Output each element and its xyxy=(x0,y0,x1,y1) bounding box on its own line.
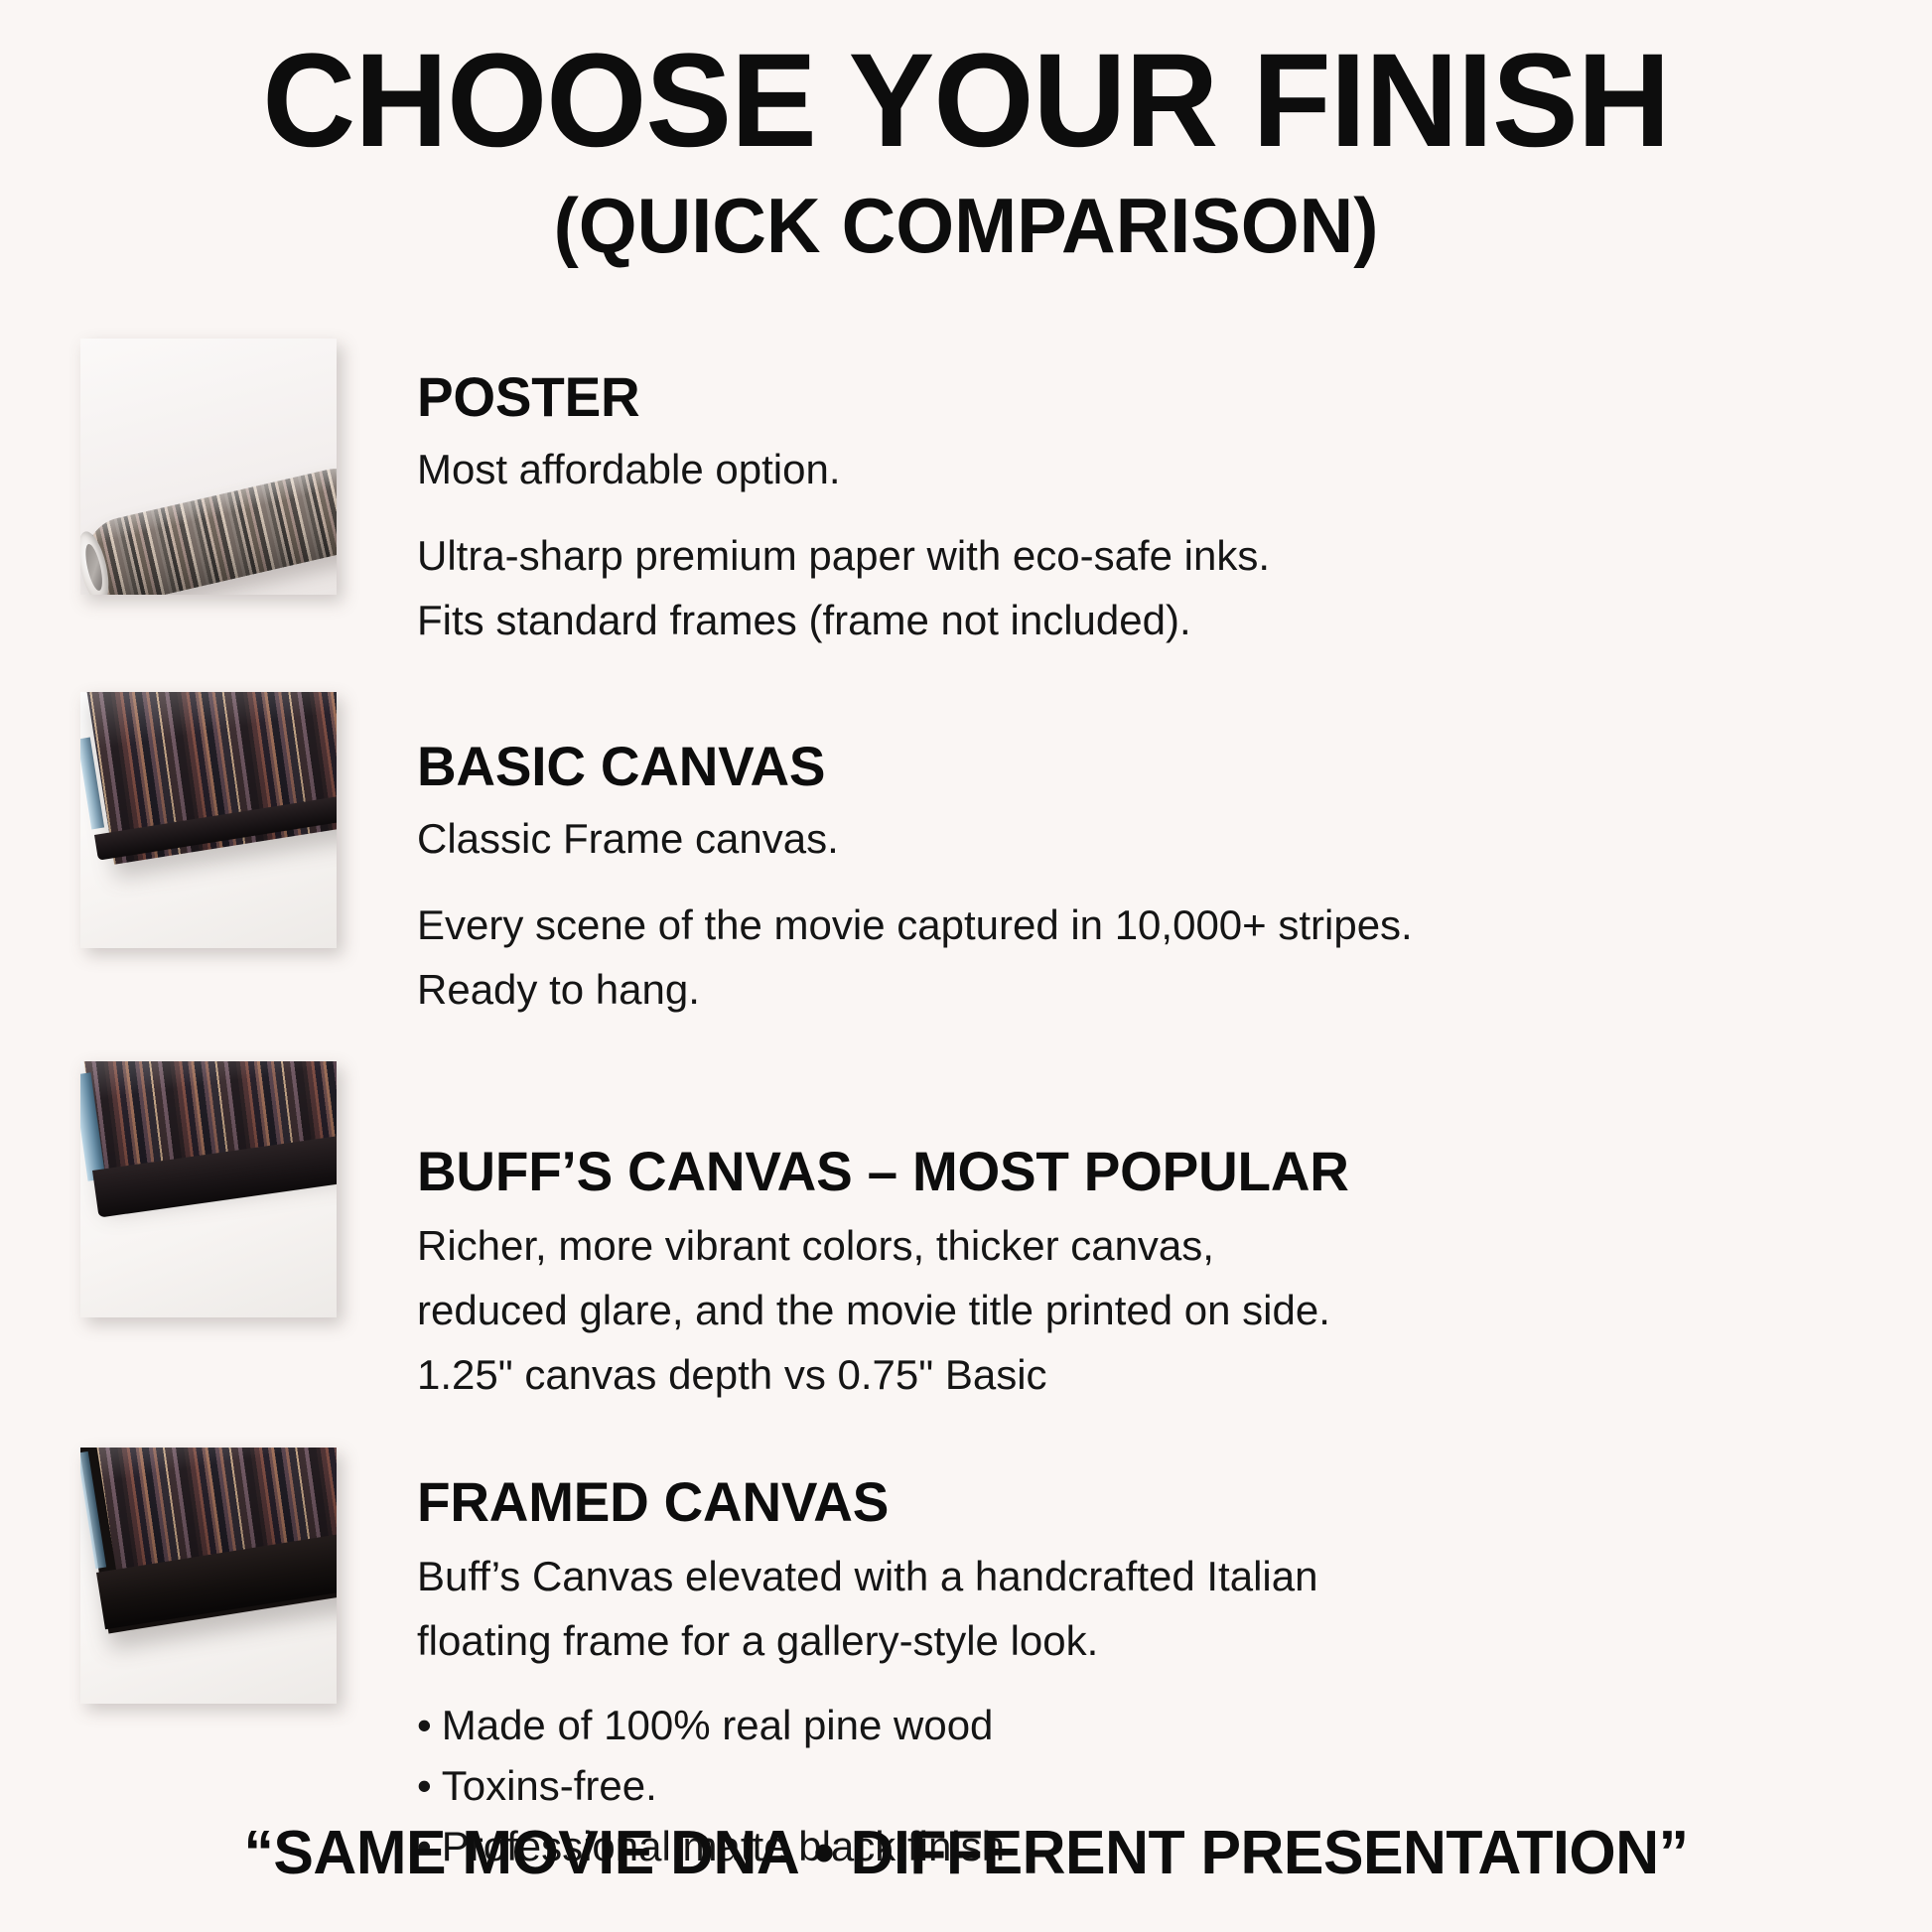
option-row-basic-canvas: BASIC CANVAS Classic Frame canvas. Every… xyxy=(0,692,1932,1018)
option-body-line: reduced glare, and the movie title print… xyxy=(417,1282,1872,1338)
footer-tagline: “SAME MOVIE DNA • DIFFERENT PRESENTATION… xyxy=(19,1818,1912,1888)
option-body-line: Every scene of the movie captured in 10,… xyxy=(417,897,1872,953)
option-body-line: Buff’s Canvas elevated with a handcrafte… xyxy=(417,1548,1872,1604)
option-body-line: Ready to hang. xyxy=(417,961,1872,1018)
list-item-label: Toxins-free. xyxy=(442,1762,657,1809)
finish-options-list: POSTER Most affordable option. Ultra-sha… xyxy=(0,339,1932,1877)
option-heading: POSTER xyxy=(417,364,1844,429)
option-text-framed-canvas: FRAMED CANVAS Buff’s Canvas elevated wit… xyxy=(417,1448,1932,1877)
page-title: CHOOSE YOUR FINISH xyxy=(29,32,1903,172)
thumbnail-column xyxy=(0,1448,417,1704)
option-body-line: Richer, more vibrant colors, thicker can… xyxy=(417,1217,1872,1274)
option-body-line: Fits standard frames (frame not included… xyxy=(417,592,1872,648)
option-row-buffs-canvas: BUFF’S CANVAS – MOST POPULAR Richer, mor… xyxy=(0,1061,1932,1403)
option-text-buffs-canvas: BUFF’S CANVAS – MOST POPULAR Richer, mor… xyxy=(417,1061,1932,1403)
thumbnail-column xyxy=(0,692,417,948)
option-body-line: Ultra-sharp premium paper with eco-safe … xyxy=(417,527,1872,584)
thumbnail-column xyxy=(0,1061,417,1317)
thumbnail-column xyxy=(0,339,417,595)
bullet-dot-icon: • xyxy=(417,1762,432,1809)
roll-end-cap-icon xyxy=(80,528,114,594)
list-item-label: Made of 100% real pine wood xyxy=(442,1702,994,1748)
infographic-page: CHOOSE YOUR FINISH (QUICK COMPARISON) PO… xyxy=(0,0,1932,1932)
poster-photo[interactable] xyxy=(80,339,337,595)
option-heading: BUFF’S CANVAS – MOST POPULAR xyxy=(417,1139,1844,1203)
header: CHOOSE YOUR FINISH (QUICK COMPARISON) xyxy=(0,0,1932,267)
option-row-framed-canvas: FRAMED CANVAS Buff’s Canvas elevated wit… xyxy=(0,1448,1932,1877)
option-text-basic-canvas: BASIC CANVAS Classic Frame canvas. Every… xyxy=(417,692,1932,1018)
option-row-poster: POSTER Most affordable option. Ultra-sha… xyxy=(0,339,1932,648)
option-text-poster: POSTER Most affordable option. Ultra-sha… xyxy=(417,339,1932,648)
option-lead: Most affordable option. xyxy=(417,441,1872,497)
option-heading: FRAMED CANVAS xyxy=(417,1469,1844,1534)
list-item: •Toxins-free. xyxy=(417,1755,1872,1816)
option-body-line: 1.25" canvas depth vs 0.75" Basic xyxy=(417,1346,1872,1403)
buffs-canvas-photo[interactable] xyxy=(80,1061,337,1317)
option-lead: Classic Frame canvas. xyxy=(417,810,1872,867)
option-heading: BASIC CANVAS xyxy=(417,734,1844,798)
list-item: •Made of 100% real pine wood xyxy=(417,1695,1872,1755)
bullet-dot-icon: • xyxy=(417,1702,432,1748)
option-body-line: floating frame for a gallery-style look. xyxy=(417,1612,1872,1669)
page-subtitle: (QUICK COMPARISON) xyxy=(29,186,1903,267)
framed-canvas-photo[interactable] xyxy=(80,1448,337,1704)
basic-canvas-photo[interactable] xyxy=(80,692,337,948)
